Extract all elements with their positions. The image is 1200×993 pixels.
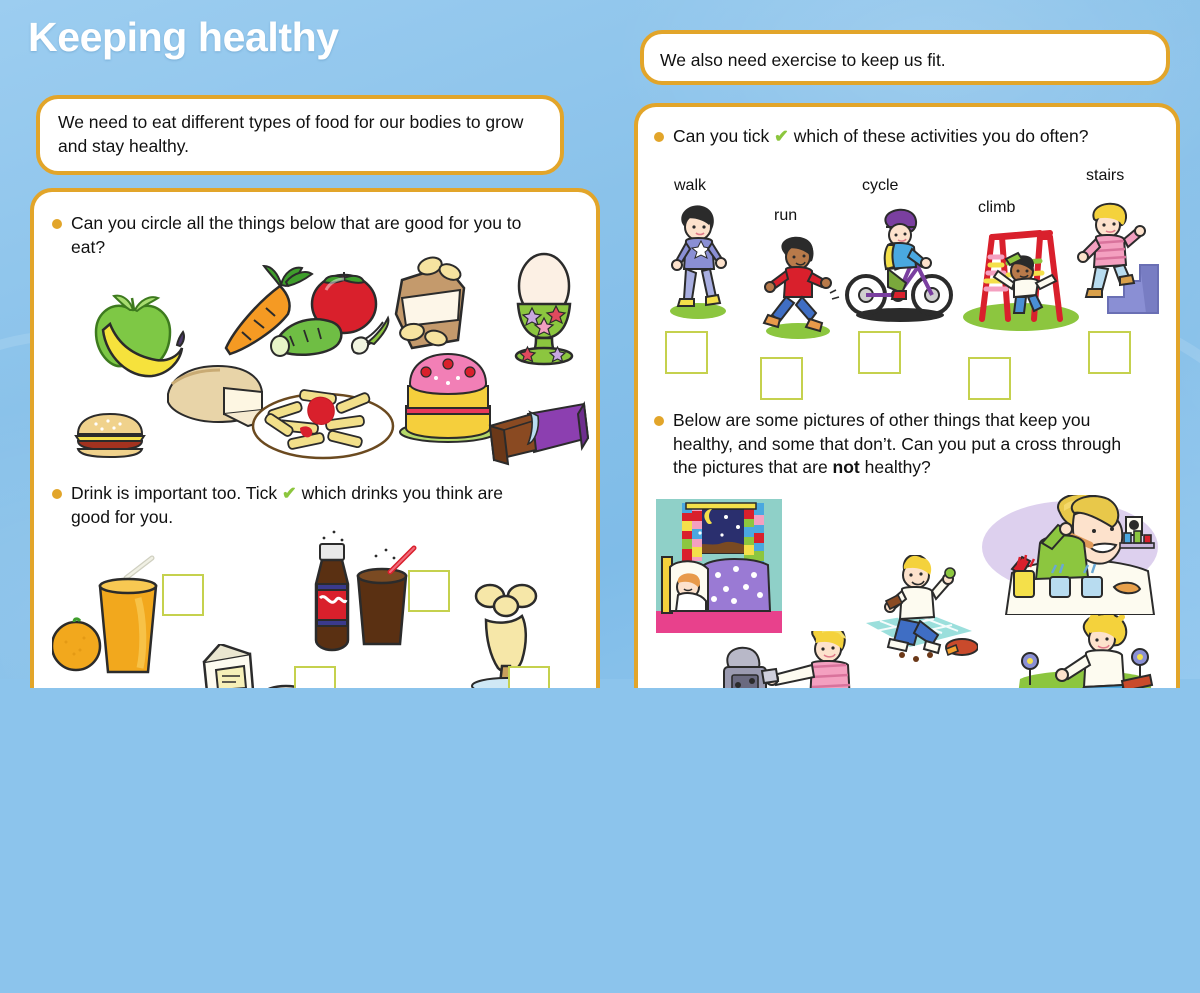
left-intro-text: We need to eat different types of food f…: [40, 99, 560, 158]
tickbox-activity-stairs[interactable]: [1088, 331, 1131, 374]
tickbox-activity-cycle[interactable]: [858, 331, 901, 374]
picture-child-eating-sweets: [860, 555, 978, 665]
bullet-icon: [52, 219, 62, 229]
tickbox-activity-climb[interactable]: [968, 357, 1011, 400]
picture-child-playing-video-game: [714, 631, 864, 688]
right-intro-panel: We also need exercise to keep us fit.: [640, 30, 1170, 85]
picture-child-brushing-teeth: [978, 495, 1163, 615]
tickbox-drink-milk[interactable]: [294, 666, 336, 688]
question-tick-good-drinks: Drink is important too. Tick ✔ which dri…: [52, 482, 572, 529]
activity-child-on-stairs: [1068, 201, 1164, 326]
tickbox-activity-run[interactable]: [760, 357, 803, 400]
picture-child-sleeping-in-bed: [656, 499, 782, 633]
bullet-icon: [654, 416, 664, 426]
food-plate-of-chips: [248, 364, 398, 464]
question-cross-unhealthy-text-2: healthy?: [860, 457, 931, 477]
tickbox-drink-orange-juice[interactable]: [162, 574, 204, 616]
tickbox-drink-milkshake[interactable]: [508, 666, 550, 688]
activity-running-child: [754, 235, 842, 343]
left-intro-panel: We need to eat different types of food f…: [36, 95, 564, 175]
food-crisps-packet: [386, 254, 478, 354]
activity-climbing-frame-child: [956, 219, 1086, 334]
picture-child-gardening: [1010, 615, 1160, 688]
food-egg-in-eggcup: [498, 252, 590, 367]
right-intro-text: We also need exercise to keep us fit.: [644, 34, 1166, 73]
activity-cycling-child: [844, 207, 954, 327]
question-cross-unhealthy: Below are some pictures of other things …: [654, 409, 1154, 480]
bullet-icon: [52, 489, 62, 499]
drink-milk-carton-and-glass: [174, 644, 314, 688]
tick-icon: ✔: [282, 483, 297, 503]
activity-label-stairs: stairs: [1086, 167, 1124, 185]
right-questions-panel: Can you tick ✔ which of these activities…: [634, 103, 1180, 688]
tickbox-activity-walk[interactable]: [665, 331, 708, 374]
drink-cola-bottle-and-cup: [290, 528, 420, 658]
activity-label-cycle: cycle: [862, 177, 898, 195]
activity-label-run: run: [774, 207, 797, 225]
activity-label-climb: climb: [978, 199, 1015, 217]
food-chocolate-bar: [486, 400, 591, 468]
question-circle-good-foods-text: Can you circle all the things below that…: [71, 212, 541, 259]
page-title: Keeping healthy: [28, 14, 339, 61]
food-burger: [70, 410, 150, 460]
bullet-icon: [654, 132, 664, 142]
question-circle-good-foods: Can you circle all the things below that…: [52, 212, 562, 259]
activity-walking-child: [664, 203, 734, 323]
activity-label-walk: walk: [674, 177, 706, 195]
tick-icon: ✔: [774, 126, 789, 146]
left-questions-panel: Can you circle all the things below that…: [30, 188, 600, 688]
question-cross-unhealthy-emphasis: not: [833, 457, 860, 477]
question-tick-activities-text-after: which of these activities you do often?: [794, 126, 1089, 146]
question-tick-good-drinks-text-before: Drink is important too. Tick: [71, 483, 277, 503]
question-tick-activities: Can you tick ✔ which of these activities…: [654, 125, 1164, 149]
drink-orange-juice: [52, 550, 172, 680]
tickbox-drink-cola[interactable]: [408, 570, 450, 612]
question-tick-activities-text-before: Can you tick: [673, 126, 769, 146]
